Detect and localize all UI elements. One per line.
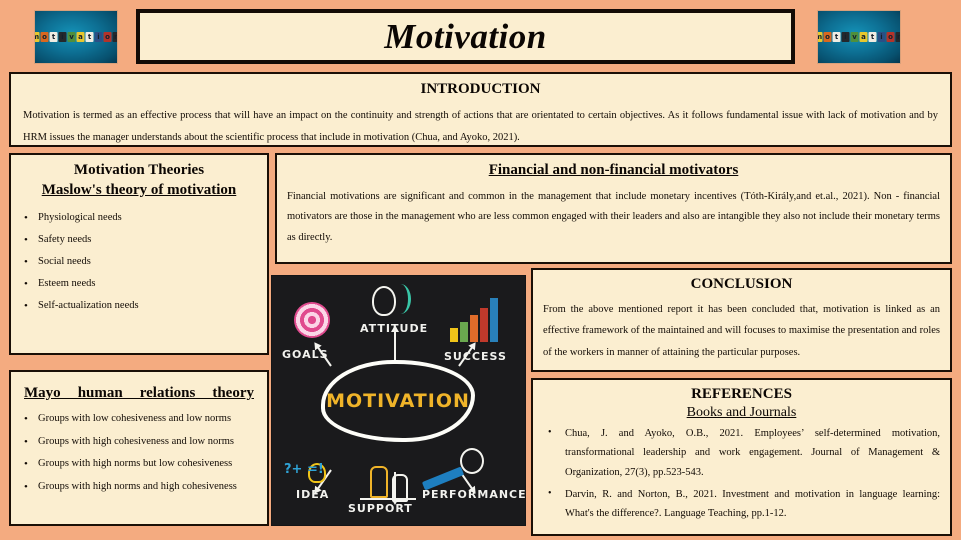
logo-tile: o — [41, 32, 49, 42]
chart-bar — [450, 328, 458, 342]
pencil-icon — [422, 466, 464, 490]
logo-tile: o — [887, 32, 895, 42]
image-label-goals: GOALS — [282, 348, 329, 361]
logo-tile: a — [77, 32, 85, 42]
motivation-theories-section: Motivation Theories Maslow's theory of m… — [9, 153, 269, 355]
logo-tile: n — [896, 32, 902, 42]
logo-letter-tiles-right: m o t i v a t i o n — [817, 32, 901, 42]
poster-canvas: m o t i v a t i o n Motivation m o t i v — [0, 0, 961, 540]
references-section: REFERENCES Books and Journals Chua, J. a… — [531, 378, 952, 536]
image-label-attitude: ATTITUDE — [360, 322, 428, 335]
poster-title-box: Motivation — [136, 9, 795, 64]
logo-tile: v — [68, 32, 76, 42]
logo-tile: a — [860, 32, 868, 42]
target-icon — [294, 302, 330, 338]
logo-tile: o — [824, 32, 832, 42]
logo-image-left: m o t i v a t i o n — [34, 10, 118, 64]
poster-header: m o t i v a t i o n Motivation m o t i v — [0, 0, 961, 72]
conclusion-heading: CONCLUSION — [543, 275, 940, 294]
logo-tile: i — [878, 32, 886, 42]
list-item: Esteem needs — [21, 273, 257, 295]
motivation-cloud-label: MOTIVATION — [326, 390, 470, 412]
list-item: Physiological needs — [21, 207, 257, 229]
image-label-support: SUPPORT — [348, 502, 413, 515]
motivation-concept-image: MOTIVATION GOALS ATTITUDE SUCCESS IDEA S… — [271, 275, 526, 526]
list-item: Groups with high norms and high cohesive… — [21, 476, 257, 499]
references-heading: REFERENCES — [543, 385, 940, 404]
financial-motivators-section: Financial and non-financial motivators F… — [275, 153, 952, 264]
conclusion-section: CONCLUSION From the above mentioned repo… — [531, 268, 952, 372]
logo-tile: i — [95, 32, 103, 42]
list-item: Chua, J. and Ayoko, O.B., 2021. Employee… — [543, 424, 940, 482]
list-item: Groups with high cohesiveness and low no… — [21, 431, 257, 454]
motivation-theories-heading: Motivation Theories — [21, 161, 257, 180]
list-item: Groups with high norms but low cohesiven… — [21, 453, 257, 476]
idea-equation-label: ?+ =! — [284, 462, 324, 477]
financial-motivators-body: Financial motivations are significant an… — [287, 187, 940, 248]
introduction-heading: INTRODUCTION — [23, 80, 938, 99]
introduction-section: INTRODUCTION Motivation is termed as an … — [9, 72, 952, 147]
logo-tile: o — [104, 32, 112, 42]
person-hair-icon — [390, 284, 411, 314]
chart-bar — [480, 308, 488, 342]
logo-tile: m — [34, 32, 40, 42]
motivation-cloud: MOTIVATION — [321, 360, 475, 442]
logo-tile: m — [817, 32, 823, 42]
logo-tile: v — [851, 32, 859, 42]
references-list: Chua, J. and Ayoko, O.B., 2021. Employee… — [543, 424, 940, 524]
list-item: Social needs — [21, 251, 257, 273]
chart-bar — [490, 298, 498, 342]
logo-tile: t — [869, 32, 877, 42]
logo-tile: i — [59, 32, 67, 42]
financial-motivators-heading: Financial and non-financial motivators — [287, 161, 940, 180]
logo-image-right: m o t i v a t i o n — [817, 10, 901, 64]
maslow-needs-list: Physiological needs Safety needs Social … — [21, 207, 257, 317]
introduction-body: Motivation is termed as an effective pro… — [23, 105, 938, 149]
conclusion-body: From the above mentioned report it has b… — [543, 299, 940, 364]
list-item: Self-actualization needs — [21, 295, 257, 317]
image-label-performance: PERFORMANCE — [422, 488, 526, 501]
references-subheading: Books and Journals — [543, 405, 940, 421]
chart-bar — [460, 322, 468, 342]
logo-tile: t — [50, 32, 58, 42]
person-support-icon — [370, 466, 388, 498]
chart-bar — [470, 315, 478, 342]
list-item: Safety needs — [21, 229, 257, 251]
mayo-theory-section: Mayo human relations theory Groups with … — [9, 370, 269, 526]
bar-chart-icon — [450, 298, 504, 342]
support-platform — [360, 498, 416, 500]
page-title: Motivation — [384, 17, 547, 57]
logo-letter-tiles-left: m o t i v a t i o n — [34, 32, 118, 42]
logo-tile: t — [86, 32, 94, 42]
logo-tile: t — [833, 32, 841, 42]
maslow-subheading: Maslow's theory of motivation — [21, 181, 257, 200]
list-item: Groups with low cohesiveness and low nor… — [21, 408, 257, 431]
logo-tile: n — [113, 32, 119, 42]
list-item: Darvin, R. and Norton, B., 2021. Investm… — [543, 485, 940, 524]
logo-tile: i — [842, 32, 850, 42]
thumbs-up-icon — [460, 448, 484, 474]
mayo-heading: Mayo human relations theory — [21, 378, 257, 408]
image-label-idea: IDEA — [296, 488, 329, 501]
image-label-success: SUCCESS — [444, 350, 507, 363]
maslow-headings: Motivation Theories Maslow's theory of m… — [21, 161, 257, 200]
mayo-groups-list: Groups with low cohesiveness and low nor… — [21, 408, 257, 498]
